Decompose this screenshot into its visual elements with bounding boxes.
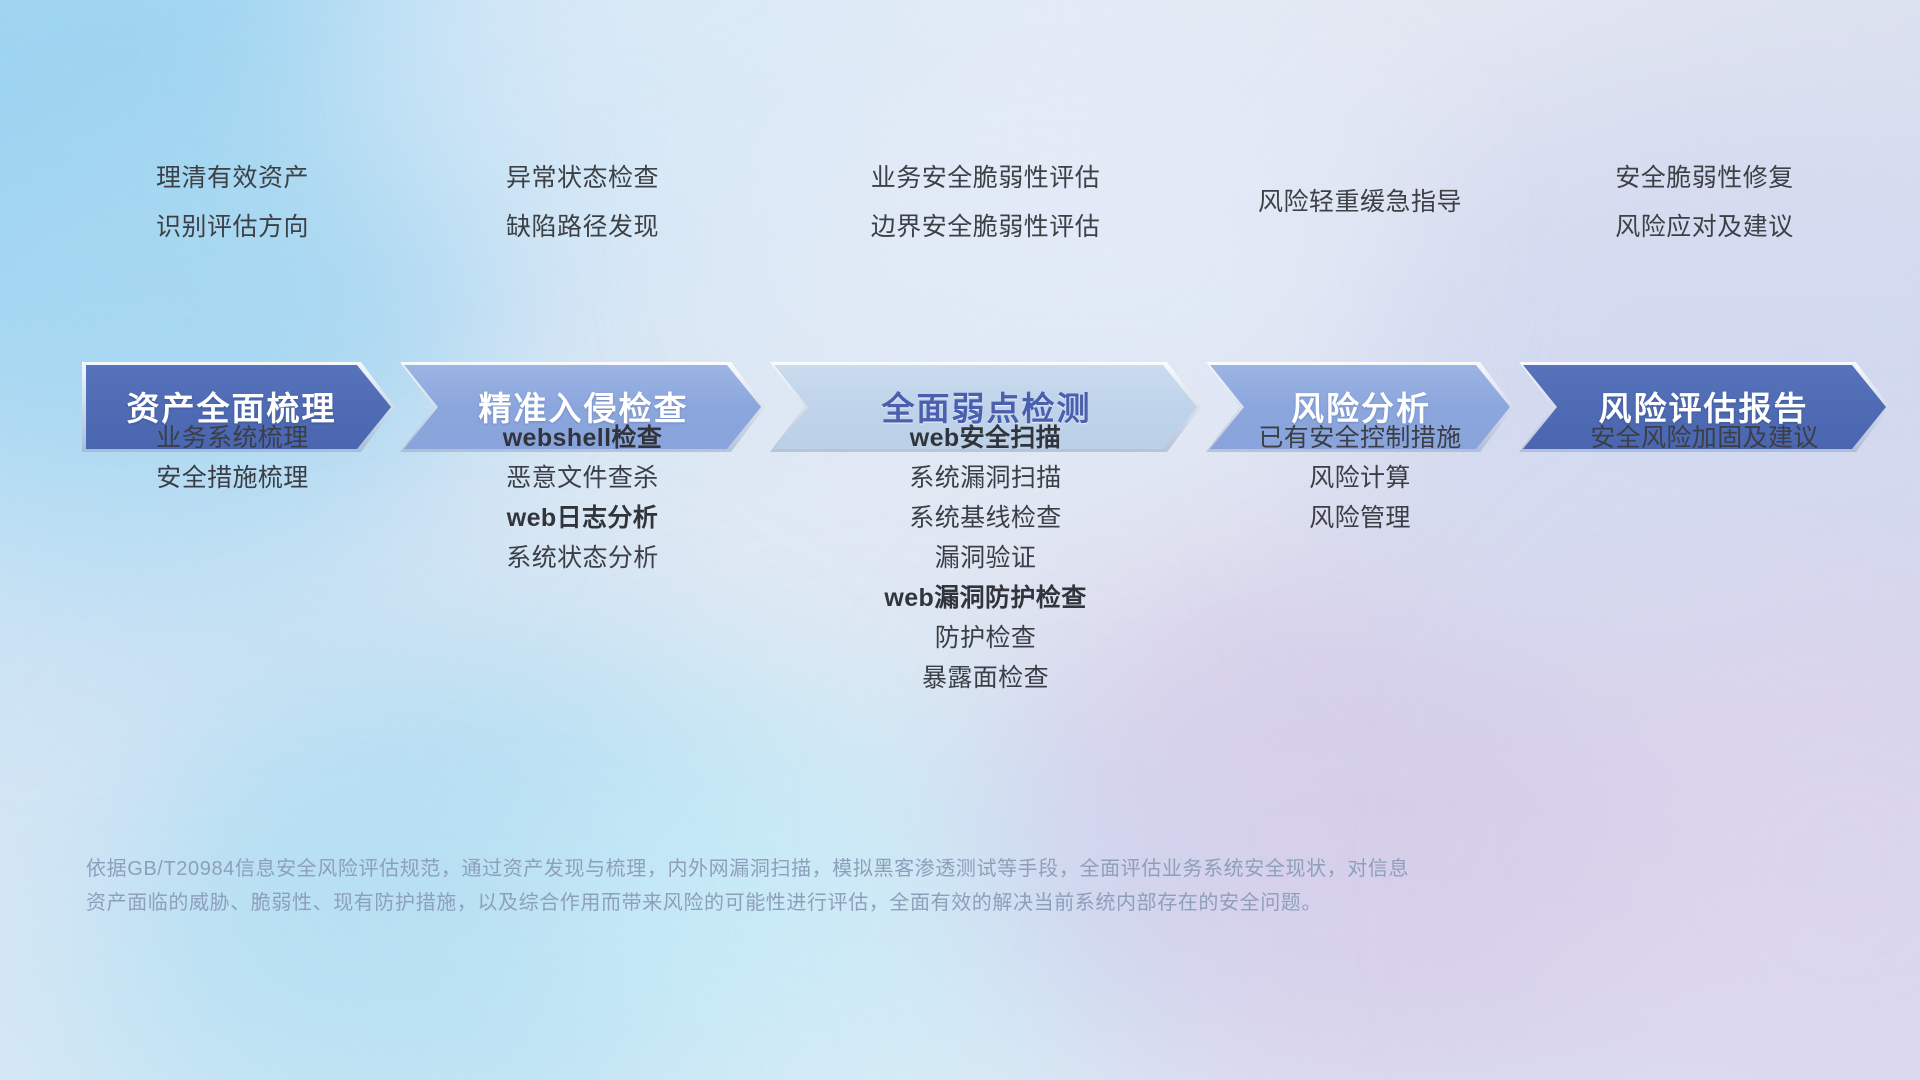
bottom-label: 风险计算 <box>1060 458 1660 498</box>
bottom-label: 防护检查 <box>686 618 1286 658</box>
bottom-labels-risk-report: 安全风险加固及建议 <box>1405 418 1920 458</box>
bottom-label: 安全风险加固及建议 <box>1405 418 1920 458</box>
bottom-label: 风险管理 <box>1060 498 1660 538</box>
bottom-label: web漏洞防护检查 <box>686 578 1286 618</box>
bottom-label: 暴露面检查 <box>686 658 1286 698</box>
footer-description: 依据GB/T20984信息安全风险评估规范，通过资产发现与梳理，内外网漏洞扫描，… <box>86 852 1646 920</box>
footer-line-2: 资产面临的威胁、脆弱性、现有防护措施，以及综合作用而带来风险的可能性进行评估，全… <box>86 886 1646 920</box>
bottom-label: 漏洞验证 <box>686 538 1286 578</box>
footer-line-1: 依据GB/T20984信息安全风险评估规范，通过资产发现与梳理，内外网漏洞扫描，… <box>86 852 1646 886</box>
slide-canvas: 理清有效资产识别评估方向异常状态检查缺陷路径发现业务安全脆弱性评估边界安全脆弱性… <box>0 0 1920 1080</box>
